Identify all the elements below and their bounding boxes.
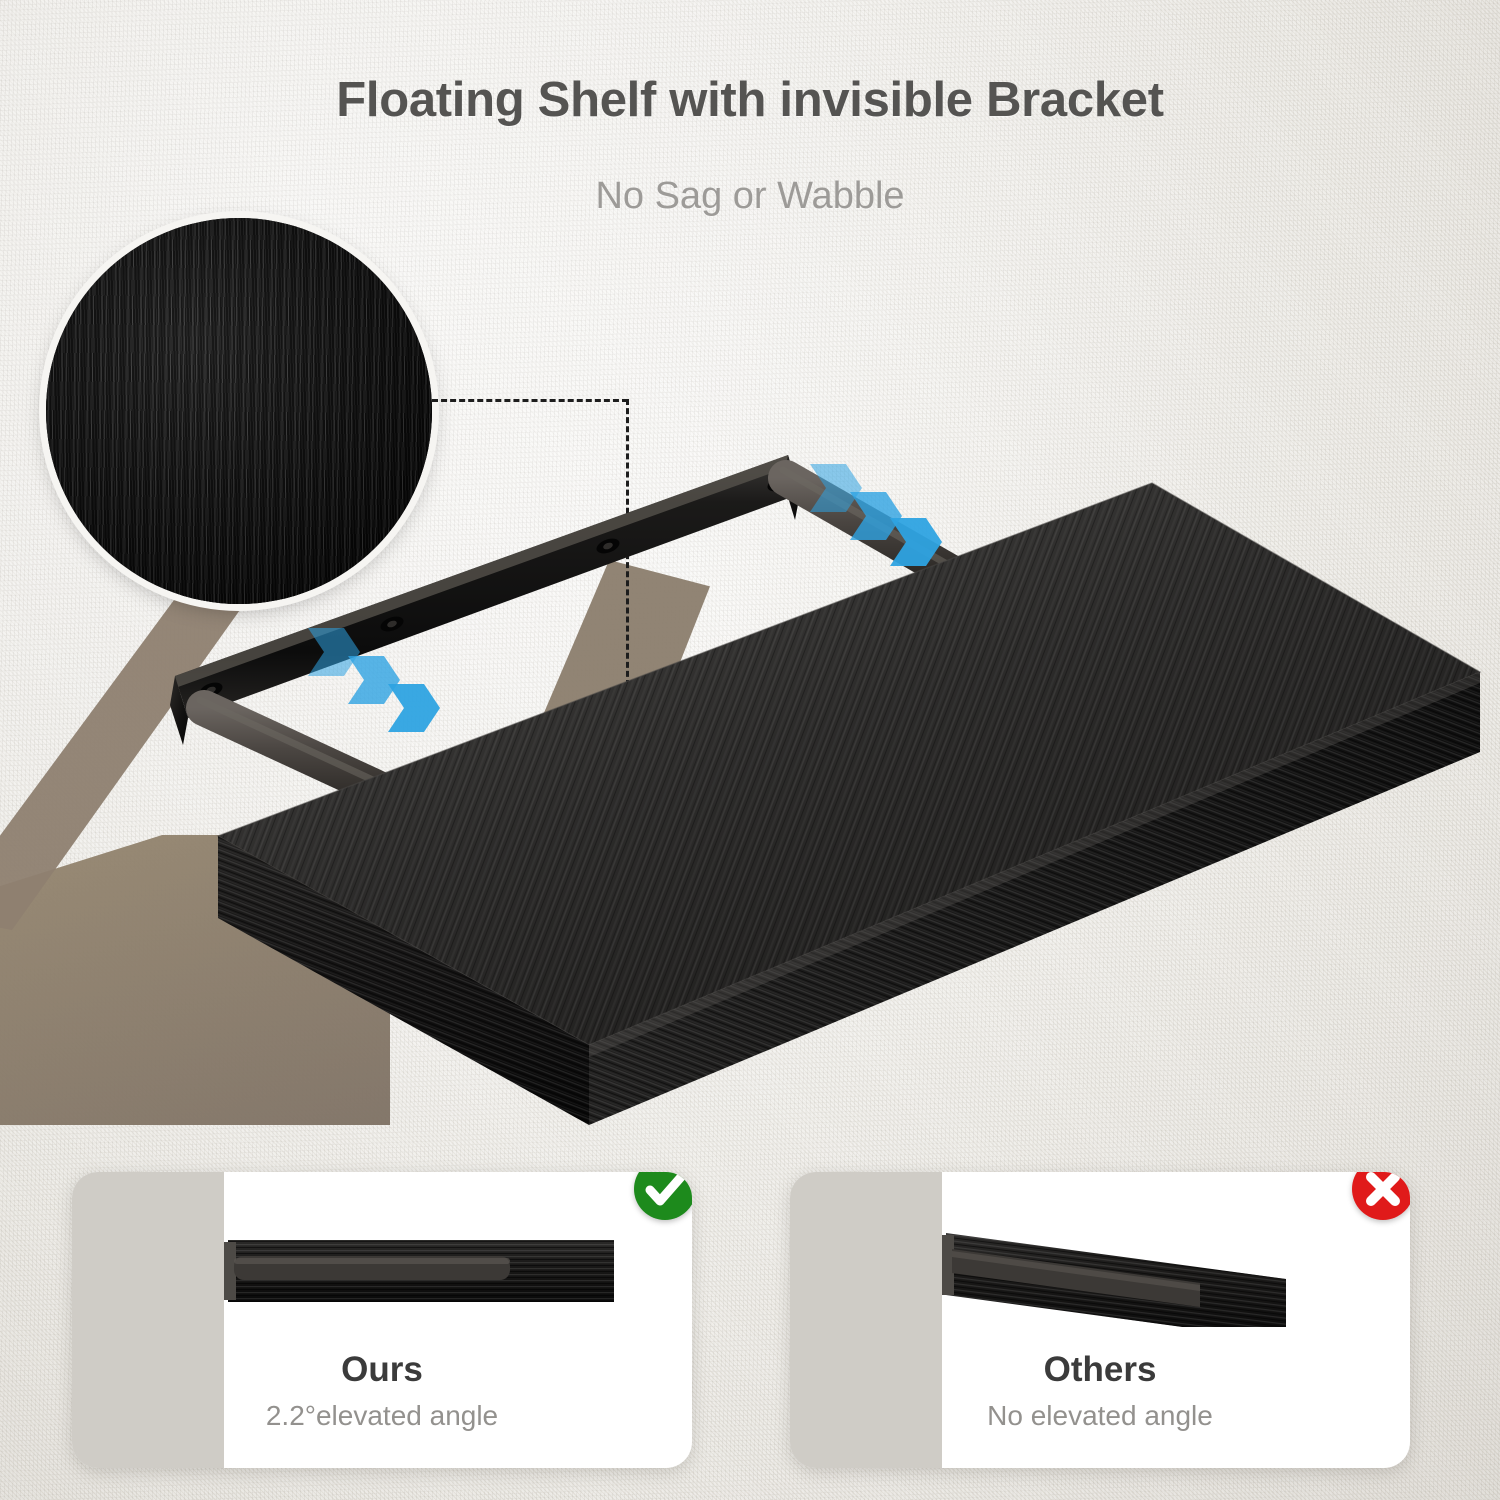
check-icon (634, 1172, 692, 1220)
card-title-others: Others (790, 1350, 1410, 1390)
comparison-card-ours[interactable]: Ours 2.2°elevated angle (72, 1172, 692, 1468)
shelf-cross-section-ours (224, 1232, 624, 1312)
card-subtitle-ours: 2.2°elevated angle (72, 1400, 692, 1432)
card-title-ours: Ours (72, 1350, 692, 1390)
product-infographic: Floating Shelf with invisible Bracket No… (0, 0, 1500, 1500)
card-subtitle-others: No elevated angle (790, 1400, 1410, 1432)
shelf-cross-section-others (942, 1227, 1342, 1327)
comparison-section: Ours 2.2°elevated angle (0, 1160, 1500, 1490)
cross-icon (1352, 1172, 1410, 1220)
comparison-card-others[interactable]: Others No elevated angle (790, 1172, 1410, 1468)
